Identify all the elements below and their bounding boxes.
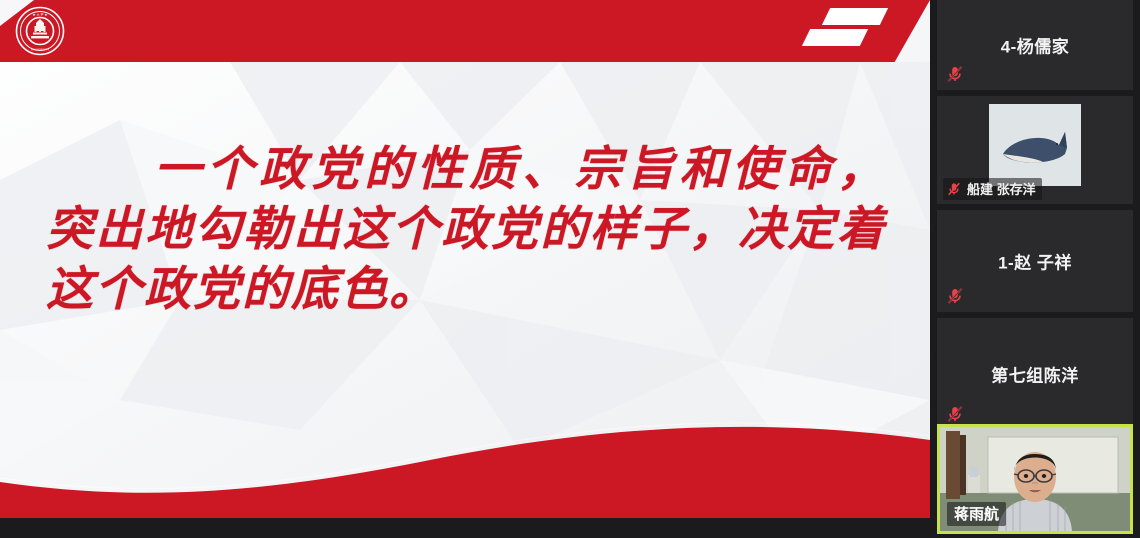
svg-text:UNIVERSITY: UNIVERSITY xyxy=(31,48,50,52)
stage-bottom-padding xyxy=(0,518,930,538)
microphone-muted-icon xyxy=(945,286,965,306)
shared-screen-stage[interactable]: ★ 大 学 ★ UNIVERSITY 一个政党的性质、宗旨和使命，突出地勾勒出这… xyxy=(0,0,930,538)
header-parallelogram-1 xyxy=(822,8,888,25)
slide-footer-wave xyxy=(0,398,930,518)
whale-icon xyxy=(995,114,1075,176)
participant-strip[interactable]: 4-杨儒家 xyxy=(930,0,1140,538)
participant-tile[interactable]: 1-赵 子祥 xyxy=(937,210,1133,312)
microphone-muted-icon xyxy=(946,181,962,197)
microphone-muted-icon xyxy=(945,64,965,84)
microphone-muted-icon xyxy=(945,404,965,424)
active-speaker-name: 蒋雨航 xyxy=(947,502,1006,526)
video-conference-window: ★ 大 学 ★ UNIVERSITY 一个政党的性质、宗旨和使命，突出地勾勒出这… xyxy=(0,0,1140,538)
header-parallelogram-2 xyxy=(802,29,868,46)
participant-name: 1-赵 子祥 xyxy=(937,249,1133,274)
header-red-shape xyxy=(0,0,930,62)
participant-tile[interactable]: 第七组陈洋 xyxy=(937,318,1133,430)
participant-name: 第七组陈洋 xyxy=(937,362,1133,387)
presentation-slide[interactable]: ★ 大 学 ★ UNIVERSITY 一个政党的性质、宗旨和使命，突出地勾勒出这… xyxy=(0,0,930,518)
participant-name: 船建 张存洋 xyxy=(967,179,1036,198)
slide-headline: 一个政党的性质、宗旨和使命，突出地勾勒出这个政党的样子，决定着这个政党的底色。 xyxy=(46,140,886,320)
participant-name: 4-杨儒家 xyxy=(937,33,1133,58)
university-seal-logo: ★ 大 学 ★ UNIVERSITY xyxy=(14,6,66,56)
participant-name-overlay: 船建 张存洋 xyxy=(943,178,1042,200)
svg-text:★ 大 学 ★: ★ 大 学 ★ xyxy=(33,11,48,16)
whale-avatar xyxy=(989,104,1081,186)
participant-tile[interactable]: 4-杨儒家 xyxy=(937,0,1133,90)
slide-header-band xyxy=(0,0,930,62)
active-speaker-tile[interactable]: 蒋雨航 xyxy=(937,424,1133,534)
participant-tile[interactable]: 船建 张存洋 xyxy=(937,96,1133,204)
